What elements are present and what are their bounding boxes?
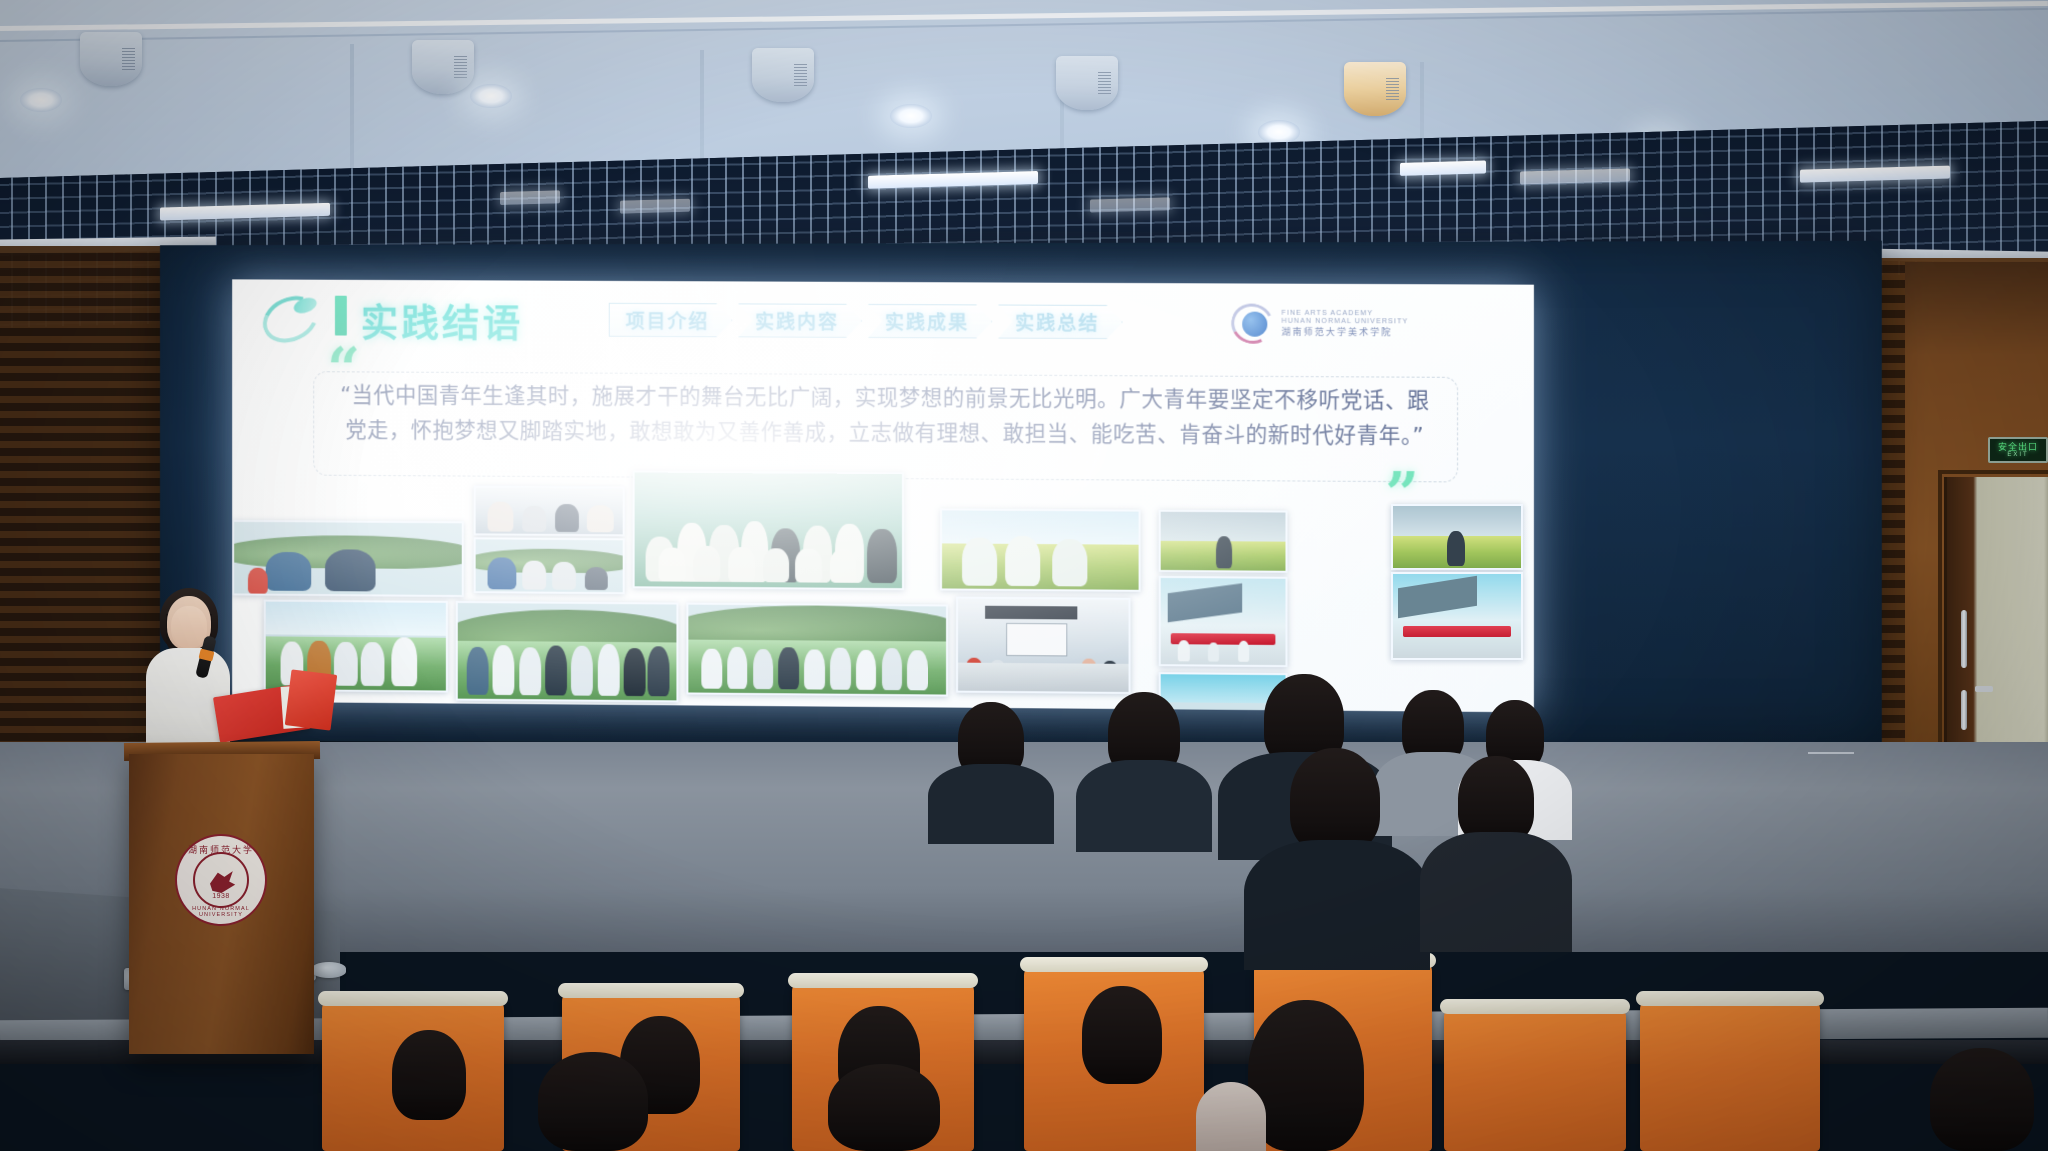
ceiling-seam-line [0,1,2048,31]
audience-head [828,1064,940,1151]
nav-chip-practice-content[interactable]: 实践内容 [738,303,862,338]
university-emblem-icon [1231,304,1273,344]
audience-head [1290,748,1380,852]
ceiling-strip-light-icon [500,190,560,205]
auditorium-scene: 安全出口 EXIT 实践结语 项目介绍 实践内容 实践成果 实践总结 [0,0,2048,1151]
audience-head [1930,1048,2034,1151]
collage-photo [474,537,625,594]
ceiling-strip-light-icon [1400,160,1486,175]
audience-shoulders [1076,760,1212,852]
red-folder [285,669,337,730]
audience-head [392,1030,466,1120]
collage-photo [686,603,948,697]
photo-collage [232,484,1534,712]
slide-nav: 项目介绍 实践内容 实践成果 实践总结 [609,303,1123,339]
logo-line-cn: 湖南师范大学美术学院 [1281,327,1408,339]
collage-photo [1159,576,1288,667]
seal-year: 1938 [195,893,247,900]
ceiling-seam-line [350,44,354,184]
seal-inner-ring: 1938 [193,852,249,908]
floor-vent-icon [312,962,346,978]
ceiling-speaker-icon [752,48,814,102]
ceiling-strip-light-icon [620,199,690,214]
collage-photo-group [633,471,904,591]
ceiling-downlight-icon [1258,120,1300,144]
university-logo-text: FINE ARTS ACADEMY HUNAN NORMAL UNIVERSIT… [1281,309,1408,338]
ceiling-downlight-icon [20,88,62,112]
audience-head [1082,986,1162,1084]
slide-header: 实践结语 项目介绍 实践内容 实践成果 实践总结 FINE ARTS ACADE… [232,279,1534,363]
audience-shoulders [928,764,1054,844]
slide-title: 实践结语 [361,292,524,347]
exit-sign-label-en: EXIT [2007,452,2028,458]
presentation-slide: 实践结语 项目介绍 实践内容 实践成果 实践总结 FINE ARTS ACADE… [232,279,1534,712]
collage-photo [940,508,1141,591]
audience-shoulders [1420,832,1572,952]
nav-chip-practice-summary[interactable]: 实践总结 [998,305,1122,340]
nav-chip-project-intro[interactable]: 项目介绍 [609,303,732,337]
collage-photo [232,520,464,597]
audience-hood [1196,1082,1266,1151]
podium: 湖南师范大学 1938 HUNAN NORMAL UNIVERSITY [129,754,314,1054]
quote-text: “当代中国青年生逢其时，施展才干的舞台无比广阔，实现梦想的前景无比光明。广大青年… [331,379,1439,455]
university-logo: FINE ARTS ACADEMY HUNAN NORMAL UNIVERSIT… [1231,301,1433,346]
exit-sign: 安全出口 EXIT [1988,437,2048,463]
exit-sign-label-cn: 安全出口 [1998,443,2038,452]
ceiling-speaker-icon [412,40,474,94]
seal-label-en: HUNAN NORMAL UNIVERSITY [177,906,265,918]
door-handle-icon[interactable] [1961,690,1967,730]
ceiling-speaker-icon [1056,56,1118,110]
seal-bird-icon [207,868,237,894]
exit-door[interactable] [1944,477,2048,777]
title-accent-bar [335,296,347,336]
audience-head [1458,756,1534,844]
ceiling-downlight-icon [470,84,512,108]
collage-photo [456,601,679,702]
audience-head [538,1052,648,1151]
swoosh-circle-icon [262,297,319,341]
university-seal: 湖南师范大学 1938 HUNAN NORMAL UNIVERSITY [175,834,267,926]
speaker-face [171,606,207,648]
collage-photo [474,486,625,537]
ceiling-strip-light-icon [1090,197,1170,212]
collage-photo [1159,510,1288,573]
door-handle-icon[interactable] [1961,610,1967,668]
audience-seat [1640,1000,1820,1151]
glasses-icon [1808,752,1854,762]
ceiling-speaker-icon [80,32,142,86]
nav-chip-practice-results[interactable]: 实践成果 [868,304,992,339]
audience-shoulders [1244,840,1430,970]
ceiling-speaker-icon [1344,62,1406,116]
collage-photo [956,597,1131,694]
ceiling-downlight-icon [890,104,932,128]
audience-seat [1444,1008,1626,1151]
door-latch-icon[interactable] [1975,686,1993,692]
